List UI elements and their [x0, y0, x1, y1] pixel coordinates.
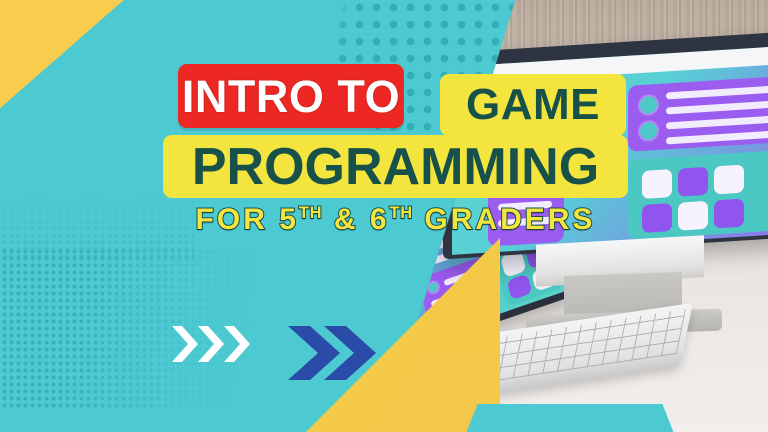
subtitle-ordinal-second: TH [390, 204, 414, 222]
subtitle-grade-range: FOR 5TH & 6TH GRADERS [163, 205, 628, 235]
programming-headline-text: PROGRAMMING [192, 141, 599, 193]
subtitle-mid: & 6 [322, 203, 389, 236]
game-headline-badge: GAME [440, 74, 626, 136]
subtitle-prefix: FOR 5 [196, 203, 299, 236]
teal-trapezoid-shape [465, 404, 675, 432]
subtitle-suffix: GRADERS [413, 203, 595, 236]
game-headline-text: GAME [466, 83, 600, 127]
poster-canvas: INTRO TO GAME PROGRAMMING FOR 5TH & 6TH … [0, 0, 768, 432]
intro-headline-text: INTRO TO [182, 74, 400, 119]
intro-headline-badge: INTRO TO [178, 64, 404, 128]
subtitle-ordinal-first: TH [299, 204, 323, 222]
programming-headline-banner: PROGRAMMING [163, 135, 628, 198]
blue-chevrons-icon [284, 322, 380, 384]
white-chevrons-icon [170, 322, 252, 366]
